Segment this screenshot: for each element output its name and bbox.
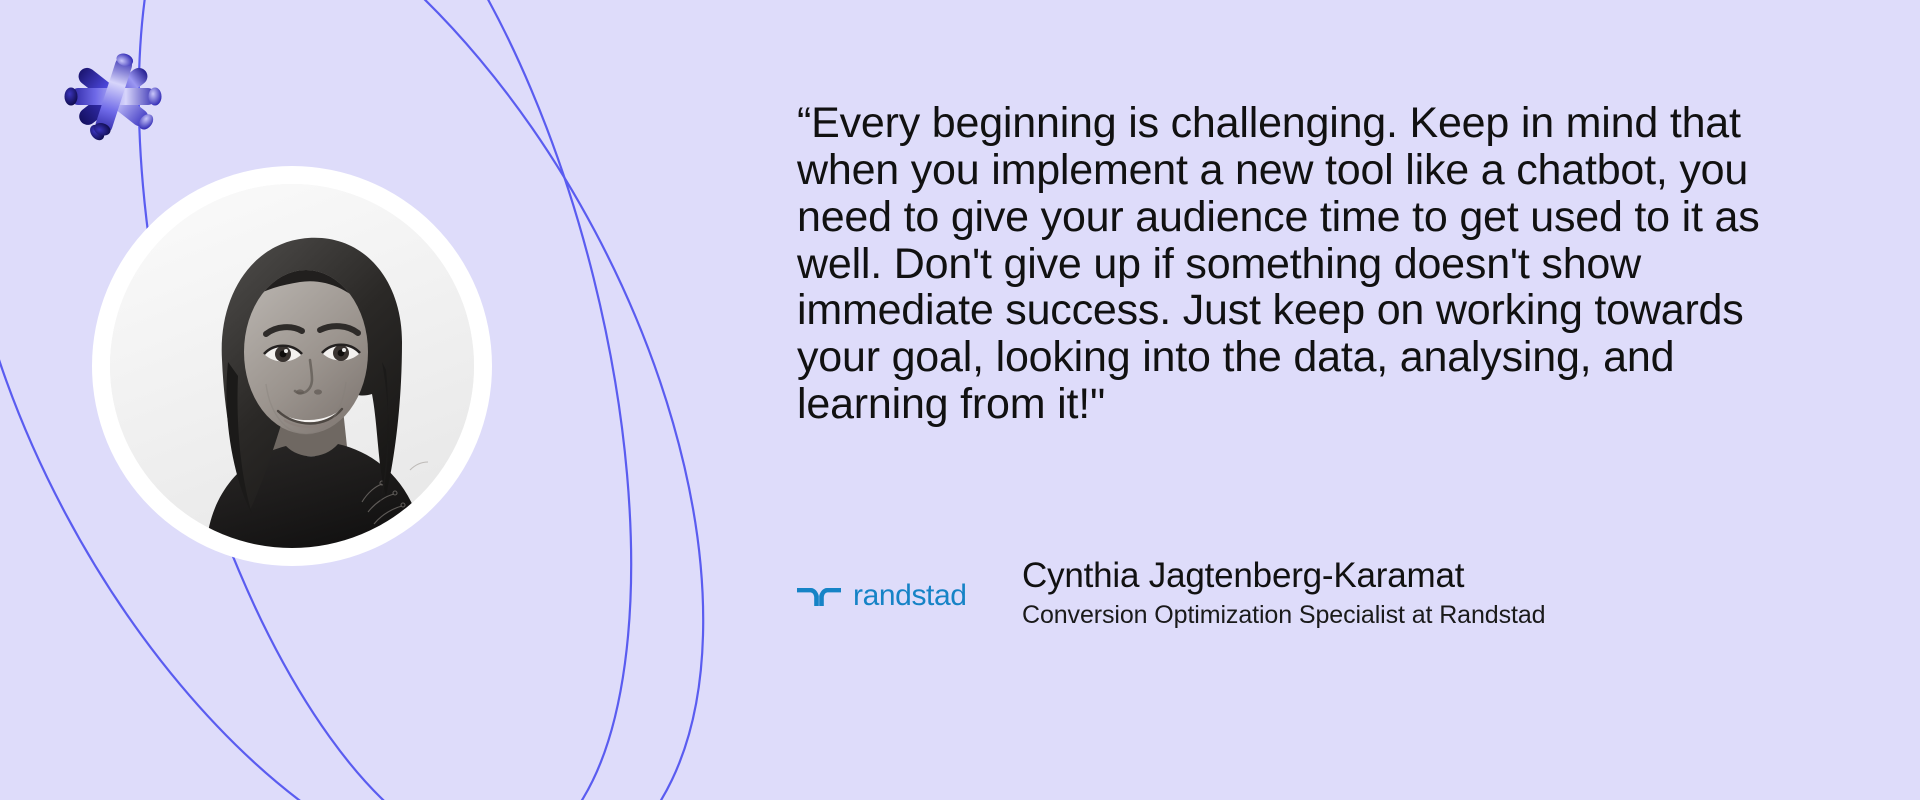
person-name: Cynthia Jagtenberg-Karamat	[1022, 555, 1545, 596]
randstad-tulip-mark	[797, 585, 841, 607]
3d-asterisk-ornament	[58, 44, 168, 148]
randstad-wordmark: randstad	[853, 581, 967, 611]
person-info: Cynthia Jagtenberg-Karamat Conversion Op…	[997, 555, 1545, 630]
avatar	[110, 184, 474, 548]
quote-text: “Every beginning is challenging. Keep in…	[797, 100, 1807, 428]
randstad-logo: randstad	[797, 575, 997, 611]
person-role: Conversion Optimization Specialist at Ra…	[1022, 600, 1545, 630]
avatar-ring	[92, 166, 492, 566]
testimonial-card: “Every beginning is challenging. Keep in…	[0, 0, 1920, 800]
attribution: randstad Cynthia Jagtenberg-Karamat Conv…	[797, 555, 1545, 630]
quote-block: “Every beginning is challenging. Keep in…	[797, 100, 1807, 428]
